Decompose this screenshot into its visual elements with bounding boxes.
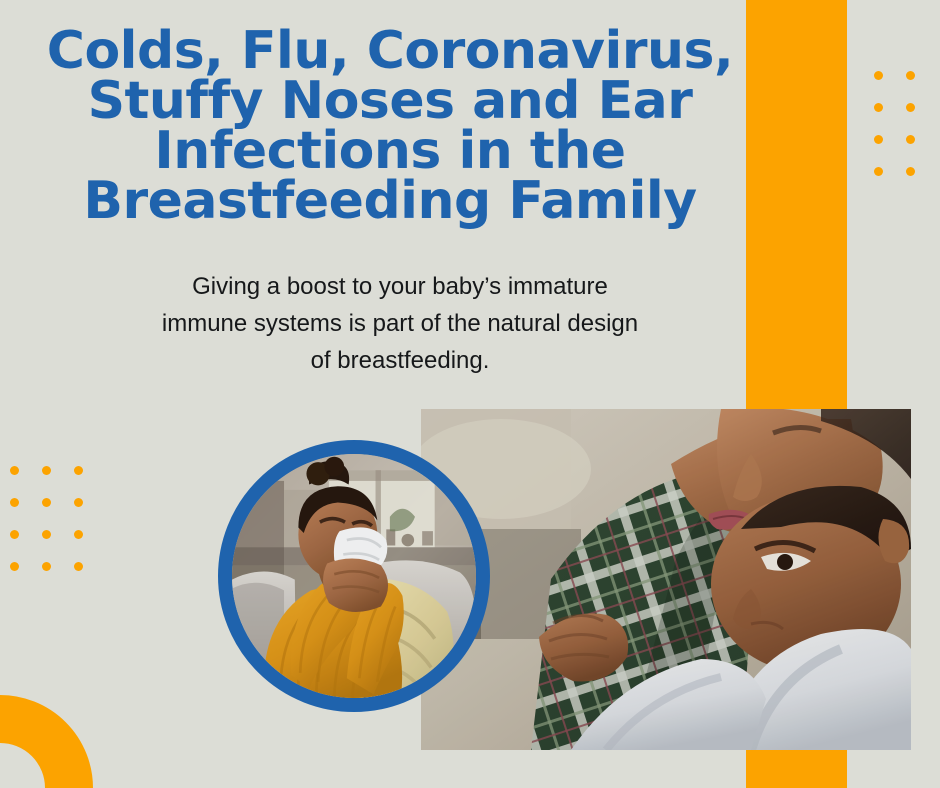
dot <box>874 71 883 80</box>
dot <box>906 103 915 112</box>
dot <box>42 530 51 539</box>
dot <box>10 498 19 507</box>
woman-blowing-nose-illustration <box>232 454 476 698</box>
dot <box>906 135 915 144</box>
dot <box>74 562 83 571</box>
dot <box>10 466 19 475</box>
subtitle-text: Giving a boost to your baby’s immature i… <box>120 268 680 379</box>
dot <box>906 167 915 176</box>
dot-grid-bottom-left <box>10 466 83 571</box>
dot <box>874 135 883 144</box>
mother-nursing-baby-photo <box>421 409 911 750</box>
dot <box>874 167 883 176</box>
dot <box>874 103 883 112</box>
dot <box>74 466 83 475</box>
dot <box>42 498 51 507</box>
poster-canvas: Colds, Flu, Coronavirus, Stuffy Noses an… <box>0 0 940 788</box>
orange-quarter-ring <box>0 695 93 788</box>
dot <box>74 498 83 507</box>
dot <box>10 562 19 571</box>
dot-grid-top-right <box>874 71 915 176</box>
mother-nursing-baby-illustration <box>421 409 911 750</box>
dot <box>74 530 83 539</box>
dot <box>42 466 51 475</box>
dot <box>10 530 19 539</box>
dot <box>906 71 915 80</box>
woman-blowing-nose-photo <box>218 440 490 712</box>
orange-vertical-bar-bottom <box>746 750 847 788</box>
dot <box>42 562 51 571</box>
headline-title: Colds, Flu, Coronavirus, Stuffy Noses an… <box>40 26 740 226</box>
orange-vertical-bar-top <box>746 0 847 409</box>
